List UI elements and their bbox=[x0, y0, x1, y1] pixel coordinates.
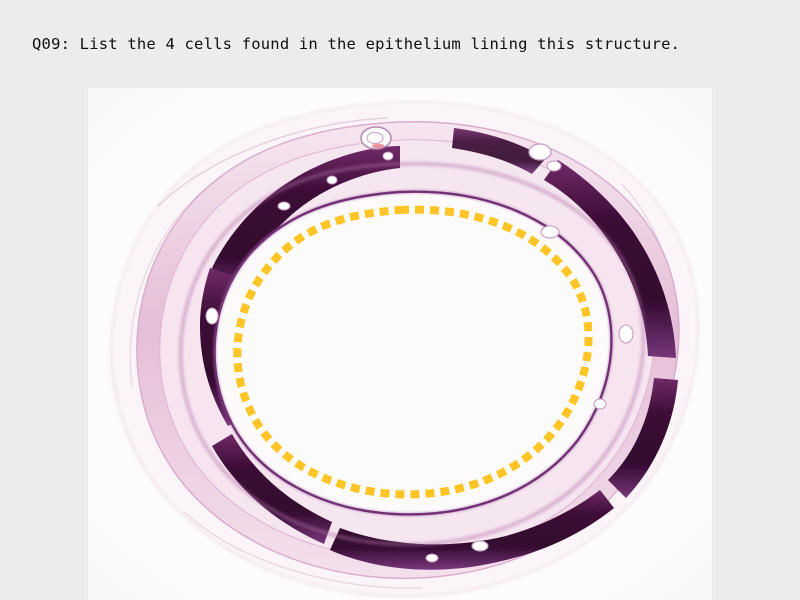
question-bar: Q09: List the 4 cells found in the epith… bbox=[0, 0, 800, 88]
histology-image-panel bbox=[88, 88, 712, 600]
histology-micrograph bbox=[88, 88, 712, 600]
question-text: Q09: List the 4 cells found in the epith… bbox=[32, 35, 680, 53]
